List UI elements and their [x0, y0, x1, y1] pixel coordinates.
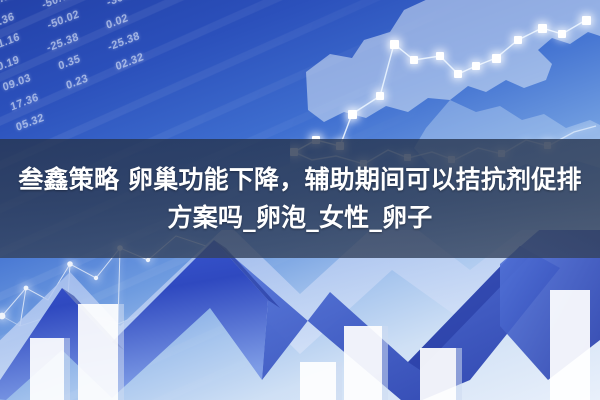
ticker-number: 0.02 [105, 12, 130, 32]
caption-line-2: 方案吗_卵泡_女性_卵子 [168, 201, 433, 235]
ticker-number: 02.32 [114, 51, 145, 73]
ticker-number: 05.32 [15, 112, 46, 134]
banner-image: -98.02 -02.36 +21.02 45.02 -93.36 -11.25… [0, 0, 600, 400]
ticker-number: -25.38 [107, 30, 141, 54]
ticker-number: 17.36 [9, 91, 40, 113]
ticker-number: -25.38 [46, 31, 80, 55]
ticker-number: 09.03 [2, 72, 33, 94]
caption-line-1: 叁鑫策略 卵巢功能下降，辅助期间可以拮抗剂促排 [18, 163, 581, 197]
ticker-number: 0.35 [57, 53, 82, 73]
caption-text-block: 叁鑫策略 卵巢功能下降，辅助期间可以拮抗剂促排 方案吗_卵泡_女性_卵子 [0, 139, 600, 258]
ticker-number: 0.19 [0, 54, 21, 74]
ticker-number: -02.36 [0, 11, 16, 35]
ticker-number: -50.02 [46, 8, 80, 32]
bar-chart-columns [0, 250, 600, 400]
ticker-number: 0.23 [65, 72, 90, 92]
ticker-number: 1.16 [0, 31, 21, 51]
